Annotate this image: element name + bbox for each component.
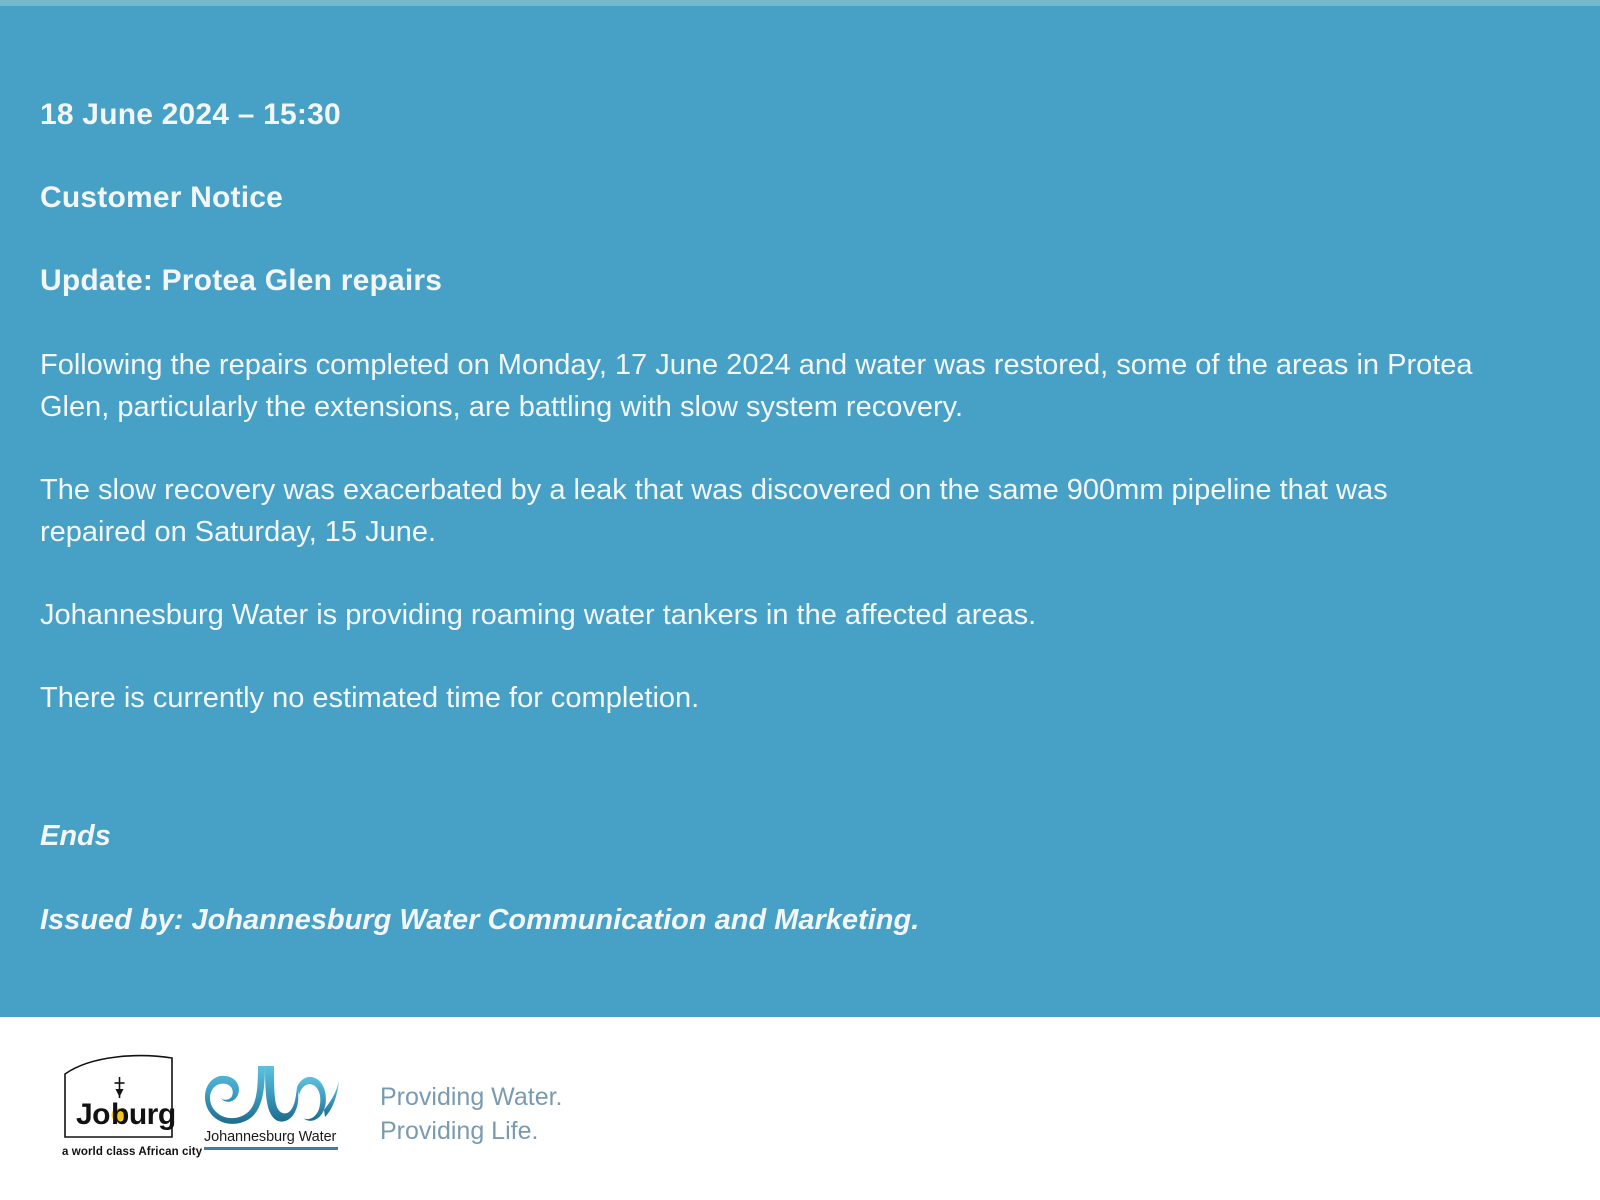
slogan-line-2: Providing Life. (380, 1114, 562, 1148)
customer-notice-page: 18 June 2024 – 15:30 Customer Notice Upd… (0, 0, 1600, 1200)
notice-paragraph-4: There is currently no estimated time for… (40, 677, 1510, 719)
notice-panel: 18 June 2024 – 15:30 Customer Notice Upd… (0, 0, 1600, 1017)
notice-spacer (40, 760, 1560, 816)
svg-text:Jo: Jo (76, 1098, 110, 1131)
notice-issued-by: Issued by: Johannesburg Water Communicat… (40, 900, 1560, 940)
notice-paragraph-2: The slow recovery was exacerbated by a l… (40, 469, 1500, 553)
jw-wordmark: Johannesburg Water (204, 1129, 344, 1145)
jw-underline (204, 1147, 338, 1150)
notice-ends-label: Ends (40, 816, 1560, 856)
notice-body: 18 June 2024 – 15:30 Customer Notice Upd… (40, 0, 1560, 940)
notice-paragraph-3: Johannesburg Water is providing roaming … (40, 594, 1510, 636)
slogan-line-1: Providing Water. (380, 1080, 562, 1114)
footer-bar: Jo burg a world class African city (0, 1017, 1600, 1200)
johannesburg-water-logo: Johannesburg Water (204, 1052, 344, 1166)
notice-type-label: Customer Notice (40, 178, 1560, 218)
joburg-logo: Jo burg a world class African city (62, 1052, 180, 1164)
notice-subject: Update: Protea Glen repairs (40, 261, 1560, 301)
jw-wave-monogram-icon (204, 1054, 340, 1128)
footer-logo-group: Jo burg a world class African city (62, 1052, 344, 1166)
footer-slogan: Providing Water. Providing Life. (380, 1080, 562, 1148)
joburg-tagline: a world class African city (62, 1146, 180, 1158)
svg-text:burg: burg (111, 1098, 175, 1131)
notice-datetime: 18 June 2024 – 15:30 (40, 95, 1560, 135)
notice-paragraph-1: Following the repairs completed on Monda… (40, 344, 1510, 428)
joburg-shield-icon: Jo burg (62, 1052, 175, 1140)
